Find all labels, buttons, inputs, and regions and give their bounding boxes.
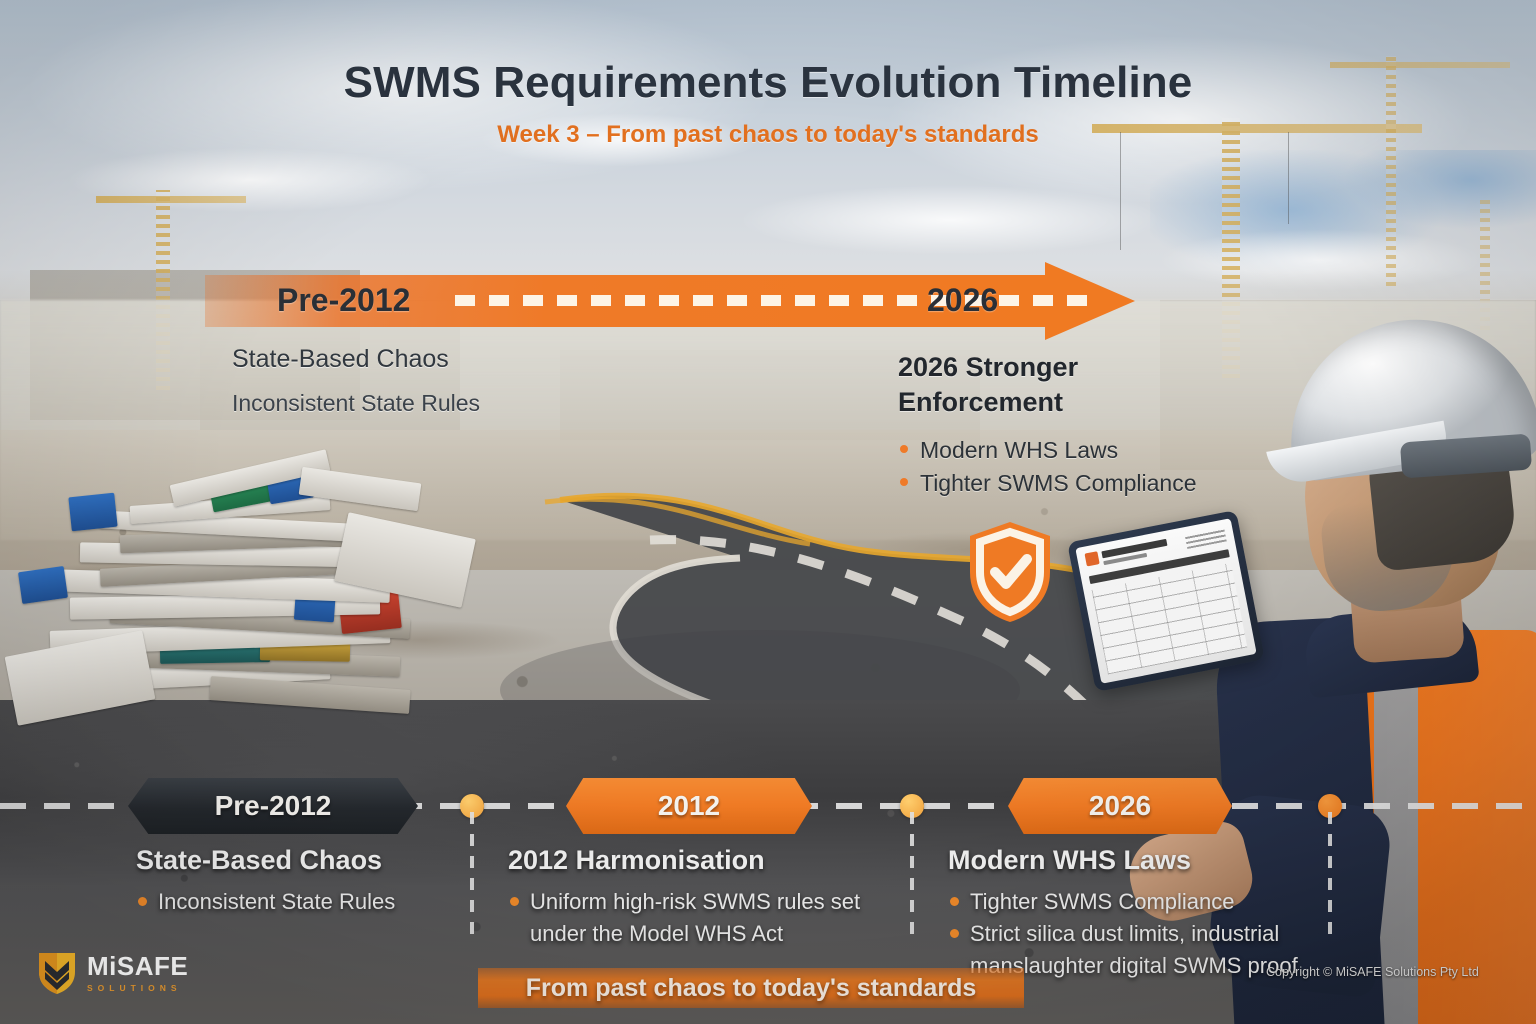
hard-hat-band bbox=[1400, 434, 1532, 479]
callout-2026-bullet-list: Modern WHS Laws Tighter SWMS Compliance bbox=[898, 434, 1318, 499]
bottom-banner: From past chaos to today's standards bbox=[478, 968, 1024, 1008]
timeline-marker-2026[interactable]: 2026 bbox=[1008, 778, 1232, 834]
callout-2026-heading-line2: Enforcement bbox=[898, 385, 1318, 420]
page-title: SWMS Requirements Evolution Timeline bbox=[0, 58, 1536, 108]
tablet-screen bbox=[1075, 518, 1256, 684]
callout-2026-heading-line1: 2026 Stronger bbox=[898, 350, 1318, 385]
paper-pile-illustration bbox=[10, 465, 510, 755]
arrow-label-end: 2026 bbox=[927, 282, 998, 319]
callout-pre2012: State-Based Chaos Inconsistent State Rul… bbox=[232, 345, 652, 417]
callout-2026-heading: 2026 Stronger Enforcement bbox=[898, 350, 1318, 420]
chevron-shield-icon bbox=[36, 950, 78, 996]
callout-pre2012-sub: Inconsistent State Rules bbox=[232, 390, 652, 417]
evolution-arrow: Pre-2012 2026 bbox=[205, 262, 1135, 340]
column-bullet-list: Inconsistent State Rules bbox=[136, 886, 466, 918]
logo-tagline: SOLUTIONS bbox=[87, 983, 188, 993]
timeline-divider-1 bbox=[470, 812, 474, 944]
tablet-doc-meta bbox=[1185, 528, 1227, 549]
logo-text-block: MiSAFE SOLUTIONS bbox=[87, 953, 188, 993]
callout-2026: 2026 Stronger Enforcement Modern WHS Law… bbox=[898, 350, 1318, 500]
list-item: Inconsistent State Rules bbox=[136, 886, 466, 918]
crane-jib-left bbox=[96, 196, 246, 203]
misafe-logo[interactable]: MiSAFE SOLUTIONS bbox=[36, 950, 226, 1000]
tablet-doc-logo bbox=[1084, 551, 1099, 566]
column-bullet-list: Uniform high-risk SWMS rules set under t… bbox=[508, 886, 888, 950]
tablet-document-icon bbox=[1067, 510, 1265, 692]
bottom-banner-text: From past chaos to today's standards bbox=[526, 974, 977, 1003]
tablet-doc-table bbox=[1092, 563, 1248, 675]
timeline-divider-2 bbox=[910, 812, 914, 944]
timeline-marker-2012[interactable]: 2012 bbox=[566, 778, 812, 834]
timeline-marker-pre-2012[interactable]: Pre-2012 bbox=[128, 778, 418, 834]
infographic-canvas: SWMS Requirements Evolution Timeline Wee… bbox=[0, 0, 1536, 1024]
column-heading: Modern WHS Laws bbox=[948, 845, 1418, 876]
timeline-column-pre-2012: State-Based Chaos Inconsistent State Rul… bbox=[136, 845, 466, 918]
page-subtitle: Week 3 – From past chaos to today's stan… bbox=[0, 121, 1536, 149]
arrow-dashed-line bbox=[455, 295, 1100, 306]
column-heading: 2012 Harmonisation bbox=[508, 845, 888, 876]
logo-name: MiSAFE bbox=[87, 953, 188, 979]
list-item: Modern WHS Laws bbox=[898, 434, 1318, 467]
timeline-column-2012: 2012 Harmonisation Uniform high-risk SWM… bbox=[508, 845, 888, 950]
arrow-label-start: Pre-2012 bbox=[277, 282, 410, 319]
list-item: Uniform high-risk SWMS rules set under t… bbox=[508, 886, 888, 950]
callout-pre2012-heading: State-Based Chaos bbox=[232, 345, 652, 374]
crane-cable-a bbox=[1120, 132, 1121, 250]
shield-check-icon bbox=[966, 520, 1054, 624]
column-heading: State-Based Chaos bbox=[136, 845, 466, 876]
list-item: Tighter SWMS Compliance bbox=[948, 886, 1418, 918]
list-item: Tighter SWMS Compliance bbox=[898, 467, 1318, 500]
copyright-text: Copyright © MiSAFE Solutions Pty Ltd bbox=[1266, 965, 1479, 979]
timeline-column-2026: Modern WHS Laws Tighter SWMS Compliance … bbox=[948, 845, 1418, 982]
